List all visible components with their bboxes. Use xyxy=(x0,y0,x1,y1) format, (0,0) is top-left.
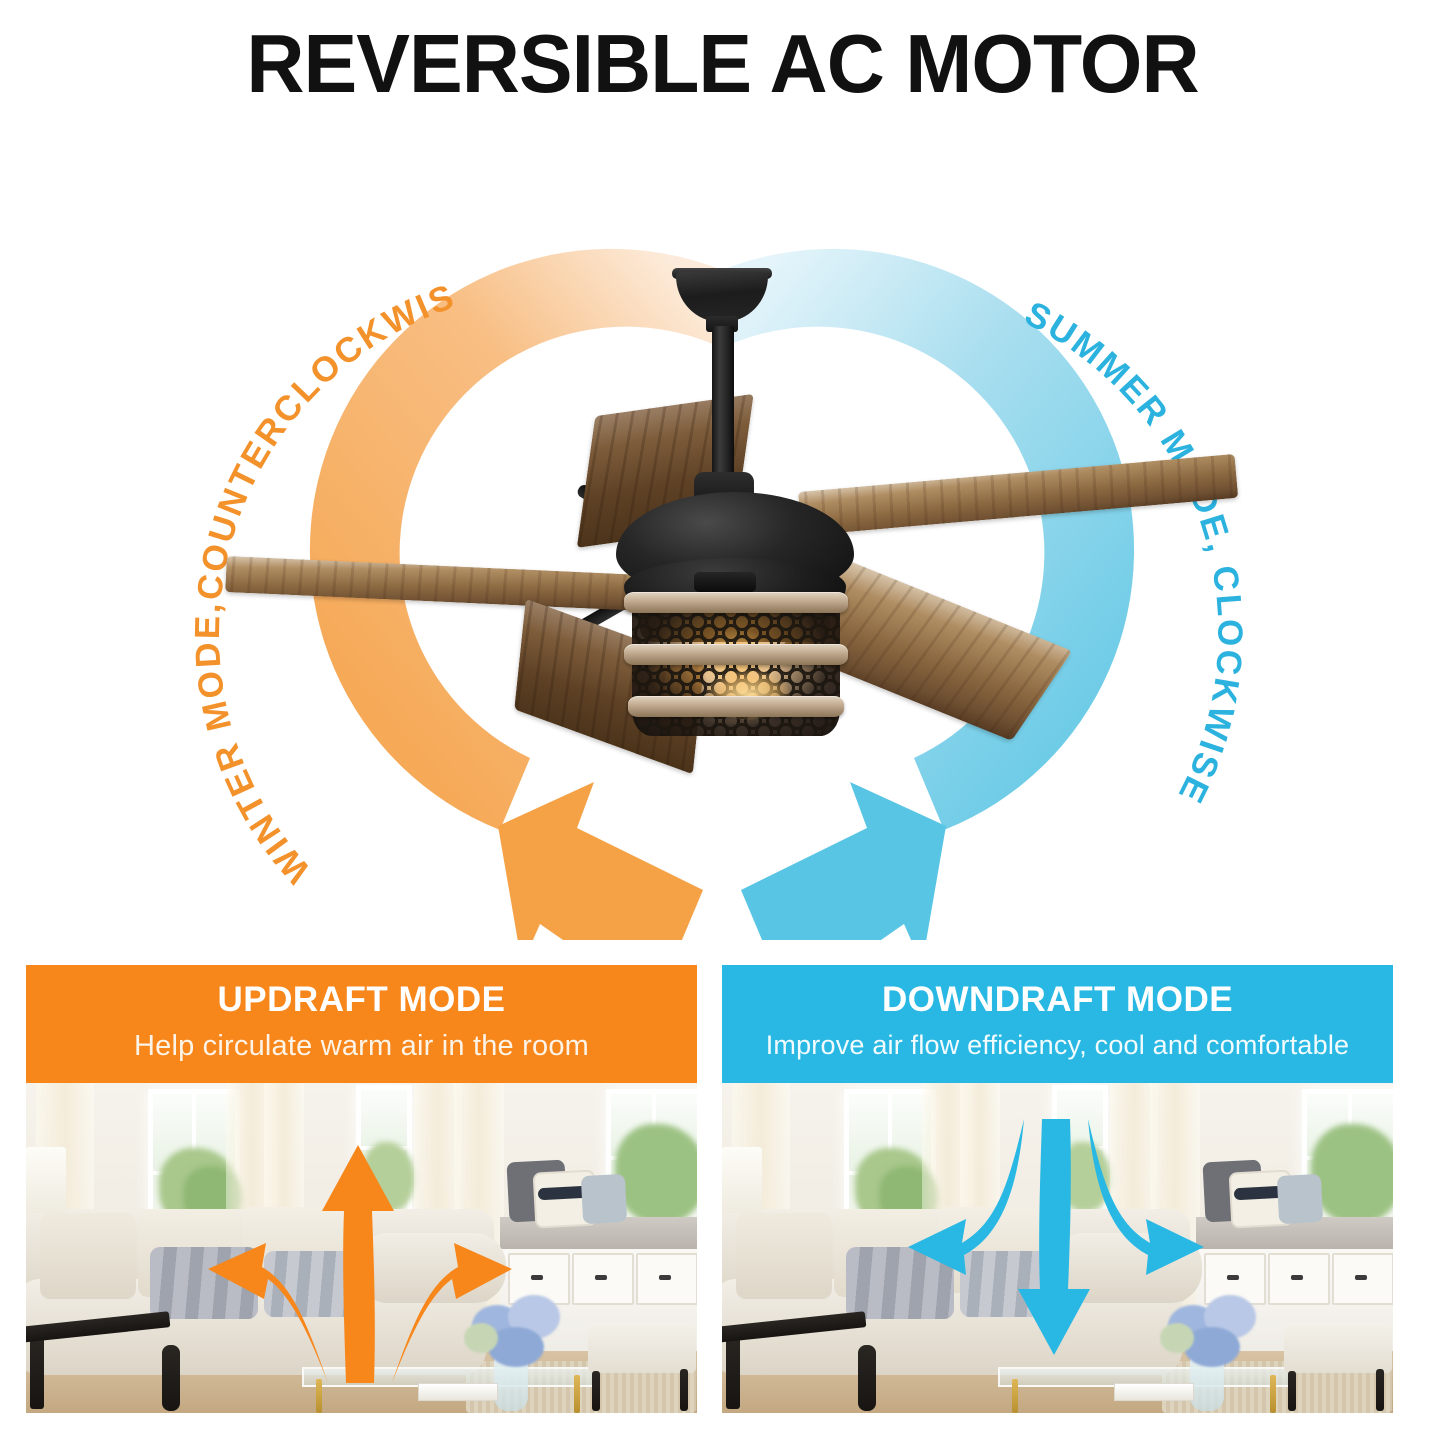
panel-downdraft: DOWNDRAFT MODE Improve air flow efficien… xyxy=(722,965,1393,1413)
arrow-curve-right-icon xyxy=(392,1243,512,1383)
orange-arrow-head xyxy=(498,782,703,940)
panel-updraft: UPDRAFT MODE Help circulate warm air in … xyxy=(26,965,697,1413)
panel-updraft-header: UPDRAFT MODE Help circulate warm air in … xyxy=(26,965,697,1083)
arrow-curve-left-icon xyxy=(908,1119,1024,1275)
updraft-arrows xyxy=(26,1083,697,1413)
living-room-photo-downdraft xyxy=(722,1083,1393,1413)
arrow-curve-left-icon xyxy=(208,1243,328,1383)
panel-downdraft-title: DOWNDRAFT MODE xyxy=(722,982,1393,1019)
rotation-arcs-svg: WINTER MODE,COUNTERCLOCKWISE SUMMER MODE… xyxy=(0,120,1445,940)
arrow-down-center-icon xyxy=(1018,1119,1090,1355)
panel-downdraft-header: DOWNDRAFT MODE Improve air flow efficien… xyxy=(722,965,1393,1083)
blue-arrow-head xyxy=(741,782,946,940)
arrow-curve-right-icon xyxy=(1088,1119,1204,1275)
living-room-photo-updraft xyxy=(26,1083,697,1413)
panel-updraft-subtitle: Help circulate warm air in the room xyxy=(26,1031,697,1063)
mode-panels: UPDRAFT MODE Help circulate warm air in … xyxy=(0,940,1445,1445)
arrow-up-center-icon xyxy=(322,1145,394,1383)
panel-downdraft-subtitle: Improve air flow efficiency, cool and co… xyxy=(722,1031,1393,1061)
panel-updraft-title: UPDRAFT MODE xyxy=(26,982,697,1019)
infographic-root: REVERSIBLE AC MOTOR xyxy=(0,0,1445,1445)
downdraft-arrows xyxy=(722,1083,1393,1413)
page-title: REVERSIBLE AC MOTOR xyxy=(22,16,1424,112)
rotation-diagram: WINTER MODE,COUNTERCLOCKWISE SUMMER MODE… xyxy=(0,120,1445,940)
